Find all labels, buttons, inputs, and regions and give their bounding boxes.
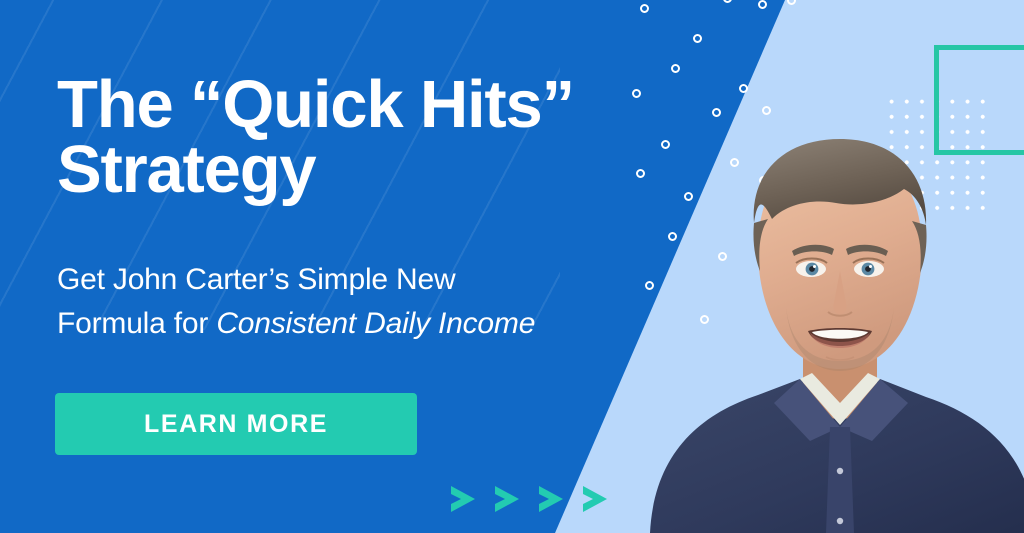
headline-line-2: Strategy: [57, 132, 316, 207]
subheading-line-1: Get John Carter’s Simple New: [57, 263, 455, 296]
promo-banner: The “Quick Hits” Strategy Get John Carte…: [0, 0, 1024, 533]
headline-line-1: The “Quick Hits”: [57, 67, 574, 142]
learn-more-button[interactable]: LEARN MORE: [55, 393, 417, 455]
john-carter-portrait: [640, 103, 1024, 533]
page-title: The “Quick Hits” Strategy: [57, 72, 657, 202]
subheading-line-2-prefix: Formula for: [57, 307, 216, 340]
chevron-right-icon: [448, 483, 478, 515]
subheading: Get John Carter’s Simple New Formula for…: [57, 258, 637, 345]
chevron-right-icon: [492, 483, 522, 515]
subheading-emphasis: Consistent Daily Income: [216, 307, 535, 340]
chevron-right-icon: [580, 483, 610, 515]
chevron-arrow-group: [448, 483, 610, 515]
chevron-right-icon: [536, 483, 566, 515]
